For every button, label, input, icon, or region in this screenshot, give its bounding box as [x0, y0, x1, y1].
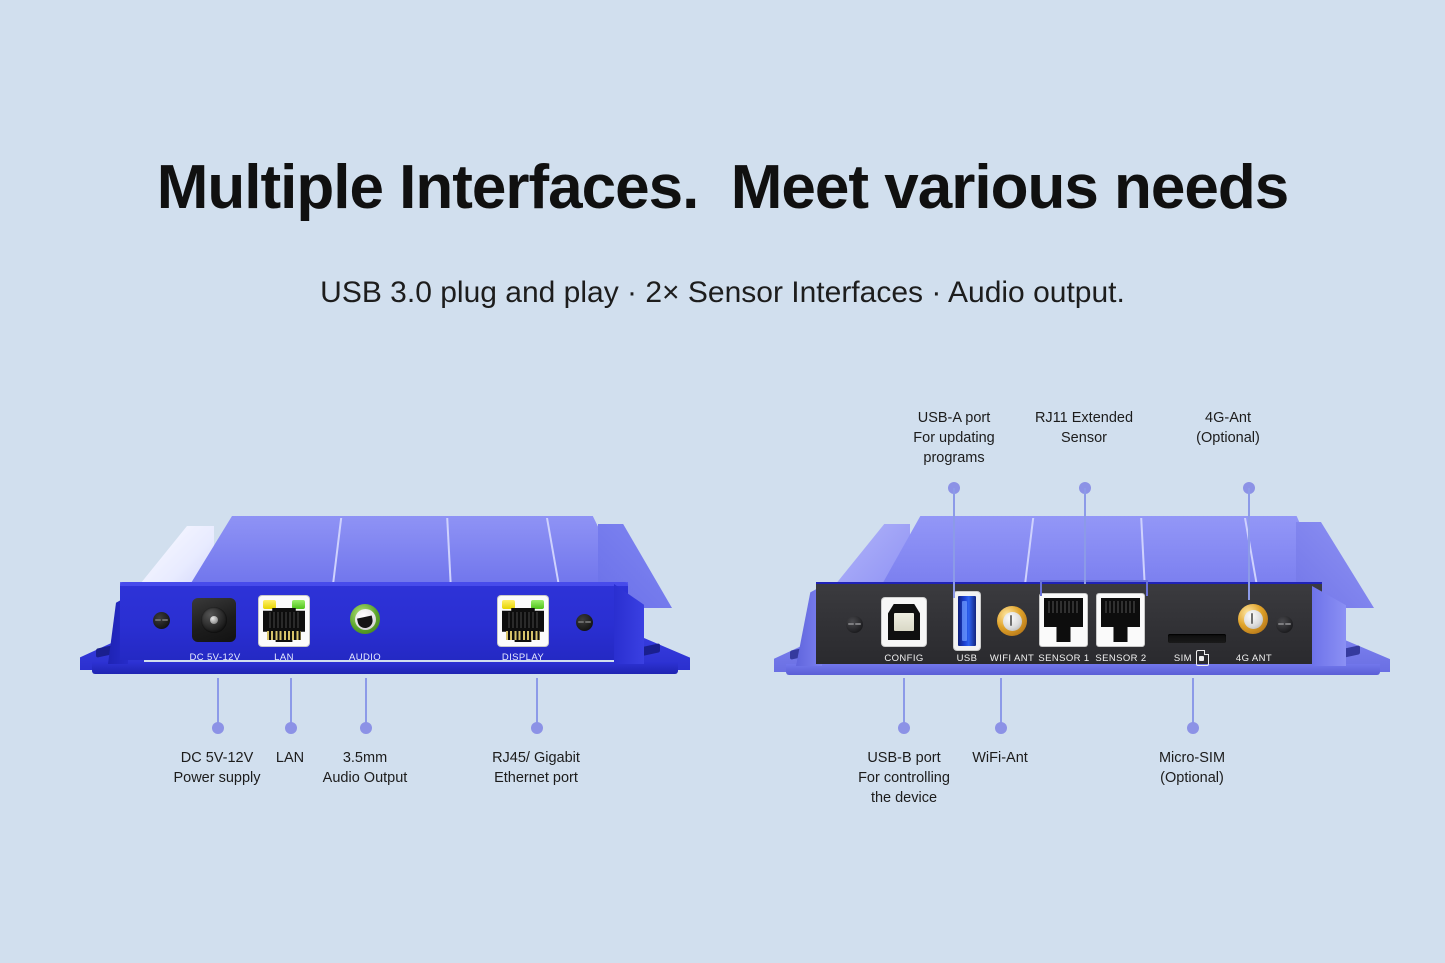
config-usb-b-port-icon[interactable]	[882, 598, 926, 646]
callout-dot-dc	[212, 722, 224, 734]
lid-top-facet	[188, 516, 628, 588]
case-screw-left-icon	[153, 612, 170, 629]
callout-wifi-ant: WiFi-Ant	[952, 748, 1048, 768]
sensor1-ribs	[1048, 601, 1079, 613]
callout-4g-ant-optional: 4G-Ant (Optional)	[1162, 408, 1294, 448]
audio-jack-icon[interactable]	[350, 604, 380, 634]
port-label-sensor-2: SENSOR 2	[1085, 653, 1157, 664]
port-label-display: DISPLAY	[486, 652, 560, 663]
lan-rj45-port-icon[interactable]	[259, 596, 309, 646]
callout-dot-audio	[360, 722, 372, 734]
callout-rj45-ethernet: RJ45/ Gigabit Ethernet port	[470, 748, 602, 788]
callout-line-micro-sim	[1192, 678, 1194, 726]
callout-audio-output: 3.5mm Audio Output	[304, 748, 426, 788]
callout-line-rj11	[1084, 488, 1086, 584]
display-pins	[506, 631, 540, 640]
callout-line-dc	[217, 678, 219, 726]
callout-rj11-sensor: RJ11 Extended Sensor	[1018, 408, 1150, 448]
left-device-front-panel: DC 5V-12V LAN AUDIO DISPLAY	[78, 500, 698, 688]
sensor-group-bracket	[1040, 580, 1148, 596]
callout-line-lan	[290, 678, 292, 726]
page-title: Multiple Interfaces. Meet various needs	[0, 152, 1445, 223]
callout-line-4g-ant	[1248, 488, 1250, 600]
display-rj45-port-icon[interactable]	[498, 596, 548, 646]
audio-inner-ring	[355, 609, 376, 630]
usb-b-contact	[894, 613, 914, 631]
callout-line-usb-b	[903, 678, 905, 726]
port-label-audio: AUDIO	[330, 652, 400, 663]
port-label-4g-ant: 4G ANT	[1220, 653, 1288, 664]
port-label-lan: LAN	[249, 652, 319, 663]
page-subtitle: USB 3.0 plug and play · 2× Sensor Interf…	[0, 276, 1445, 310]
port-label-sim: SIM	[1158, 653, 1192, 664]
audio-hole	[357, 615, 374, 629]
lan-pins	[267, 631, 301, 640]
infographic-page: Multiple Interfaces. Meet various needs …	[0, 0, 1445, 963]
sim-card-icon	[1196, 650, 1209, 666]
sma-center-pin	[1010, 615, 1012, 626]
lan-ribs	[269, 612, 299, 628]
face-highlight	[120, 582, 628, 586]
callout-dot-micro-sim	[1187, 722, 1199, 734]
usb3-tongue	[962, 601, 967, 641]
device-base	[786, 664, 1380, 675]
callout-line-usb-a	[953, 488, 955, 598]
sensor-2-rj11-port-icon[interactable]	[1097, 594, 1144, 646]
usb-a-3-port-icon[interactable]	[954, 592, 980, 650]
port-label-dc: DC 5V-12V	[172, 652, 258, 663]
callout-line-wifi-ant	[1000, 678, 1002, 726]
sma-center-pin-4g	[1251, 613, 1253, 624]
sma-ring	[1003, 612, 1022, 631]
usb3-slot	[958, 596, 976, 646]
dc-power-jack-icon[interactable]	[192, 598, 236, 642]
sma-ring-4g	[1244, 610, 1263, 629]
callout-dot-lan	[285, 722, 297, 734]
callout-line-display	[536, 678, 538, 726]
wifi-antenna-sma-connector-icon[interactable]	[997, 606, 1027, 636]
callout-micro-sim: Micro-SIM (Optional)	[1130, 748, 1254, 788]
case-screw-right-icon	[1276, 616, 1293, 633]
case-screw-right-icon	[576, 614, 593, 631]
case-screw-left-icon	[846, 616, 863, 633]
callout-dot-wifi-ant	[995, 722, 1007, 734]
display-led-green	[531, 600, 544, 609]
display-ribs	[508, 612, 538, 628]
sensor2-ribs	[1105, 601, 1136, 613]
4g-antenna-sma-connector-icon[interactable]	[1238, 604, 1268, 634]
callout-usb-b-port: USB-B port For controlling the device	[838, 748, 970, 808]
sensor-1-rj11-port-icon[interactable]	[1040, 594, 1087, 646]
display-led-yellow	[502, 600, 515, 609]
micro-sim-slot-icon[interactable]	[1168, 634, 1226, 643]
callout-dot-display	[531, 722, 543, 734]
lan-led-green	[292, 600, 305, 609]
device-base	[92, 662, 678, 674]
callout-usb-a-port: USB-A port For updating programs	[888, 408, 1020, 468]
lan-led-yellow	[263, 600, 276, 609]
callout-dot-usb-b	[898, 722, 910, 734]
dc-center-pin	[210, 616, 218, 624]
lid-top-facet	[880, 516, 1328, 588]
callout-line-audio	[365, 678, 367, 726]
